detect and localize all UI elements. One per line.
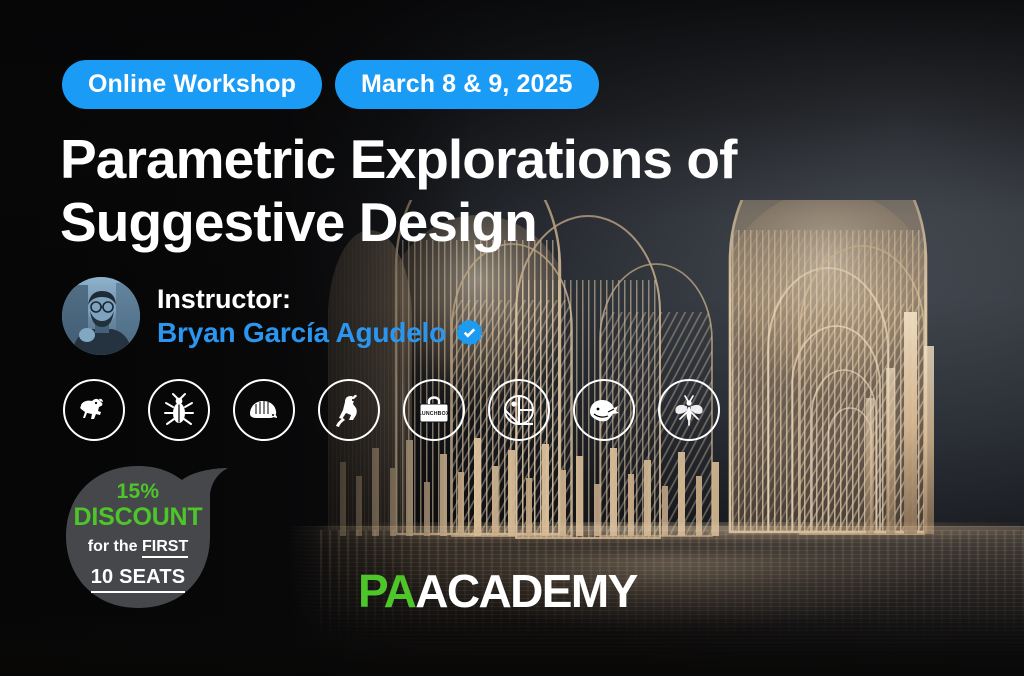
instructor-name-row: Bryan García Agudelo — [157, 317, 484, 349]
bird-icon[interactable] — [573, 379, 635, 441]
header-badges: Online Workshop March 8 & 9, 2025 — [62, 60, 599, 109]
svg-text:LUNCHBOX: LUNCHBOX — [419, 411, 450, 417]
date-badge[interactable]: March 8 & 9, 2025 — [335, 60, 599, 109]
golden-ratio-icon[interactable] — [488, 379, 550, 441]
date-badge-label: March 8 & 9, 2025 — [361, 70, 573, 99]
avatar — [62, 277, 140, 355]
kangaroo-icon[interactable] — [318, 379, 380, 441]
for-the-text: for the — [88, 538, 142, 555]
rhino-icon[interactable] — [63, 379, 125, 441]
instructor-block: Instructor: Bryan García Agudelo — [62, 277, 484, 355]
beetle-icon[interactable] — [148, 379, 210, 441]
discount-percent: 15% — [117, 481, 160, 503]
logo-pa: PA — [358, 564, 415, 618]
discount-badge[interactable]: 15% DISCOUNT for the FIRST 10 SEATS — [62, 466, 228, 608]
title-line-2: Suggestive Design — [60, 191, 537, 253]
logo-academy: ACADEMY — [415, 564, 636, 618]
workshop-promo-poster: Online Workshop March 8 & 9, 2025 Parame… — [0, 0, 1024, 676]
lunchbox-icon[interactable]: LUNCHBOX — [403, 379, 465, 441]
discount-seats: 10 SEATS — [91, 565, 186, 593]
mosquito-icon[interactable] — [658, 379, 720, 441]
page-title: Parametric Explorations of Suggestive De… — [60, 128, 850, 253]
discount-badge-text: 15% DISCOUNT for the FIRST 10 SEATS — [62, 466, 214, 608]
paacademy-logo[interactable]: PAACADEMY — [358, 564, 637, 618]
instructor-label: Instructor: — [157, 284, 484, 315]
instructor-text: Instructor: Bryan García Agudelo — [157, 284, 484, 349]
discount-for-the: for the FIRST — [88, 535, 188, 559]
verified-badge-icon — [455, 318, 484, 347]
animal-icon-row: LUNCHBOX — [63, 379, 720, 441]
workshop-type-badge-label: Online Workshop — [88, 70, 296, 99]
instructor-name: Bryan García Agudelo — [157, 317, 446, 349]
workshop-type-badge[interactable]: Online Workshop — [62, 60, 322, 109]
first-text: FIRST — [142, 538, 188, 558]
title-line-1: Parametric Explorations of — [60, 128, 737, 190]
discount-word: DISCOUNT — [74, 504, 203, 530]
hedgehog-icon[interactable] — [233, 379, 295, 441]
